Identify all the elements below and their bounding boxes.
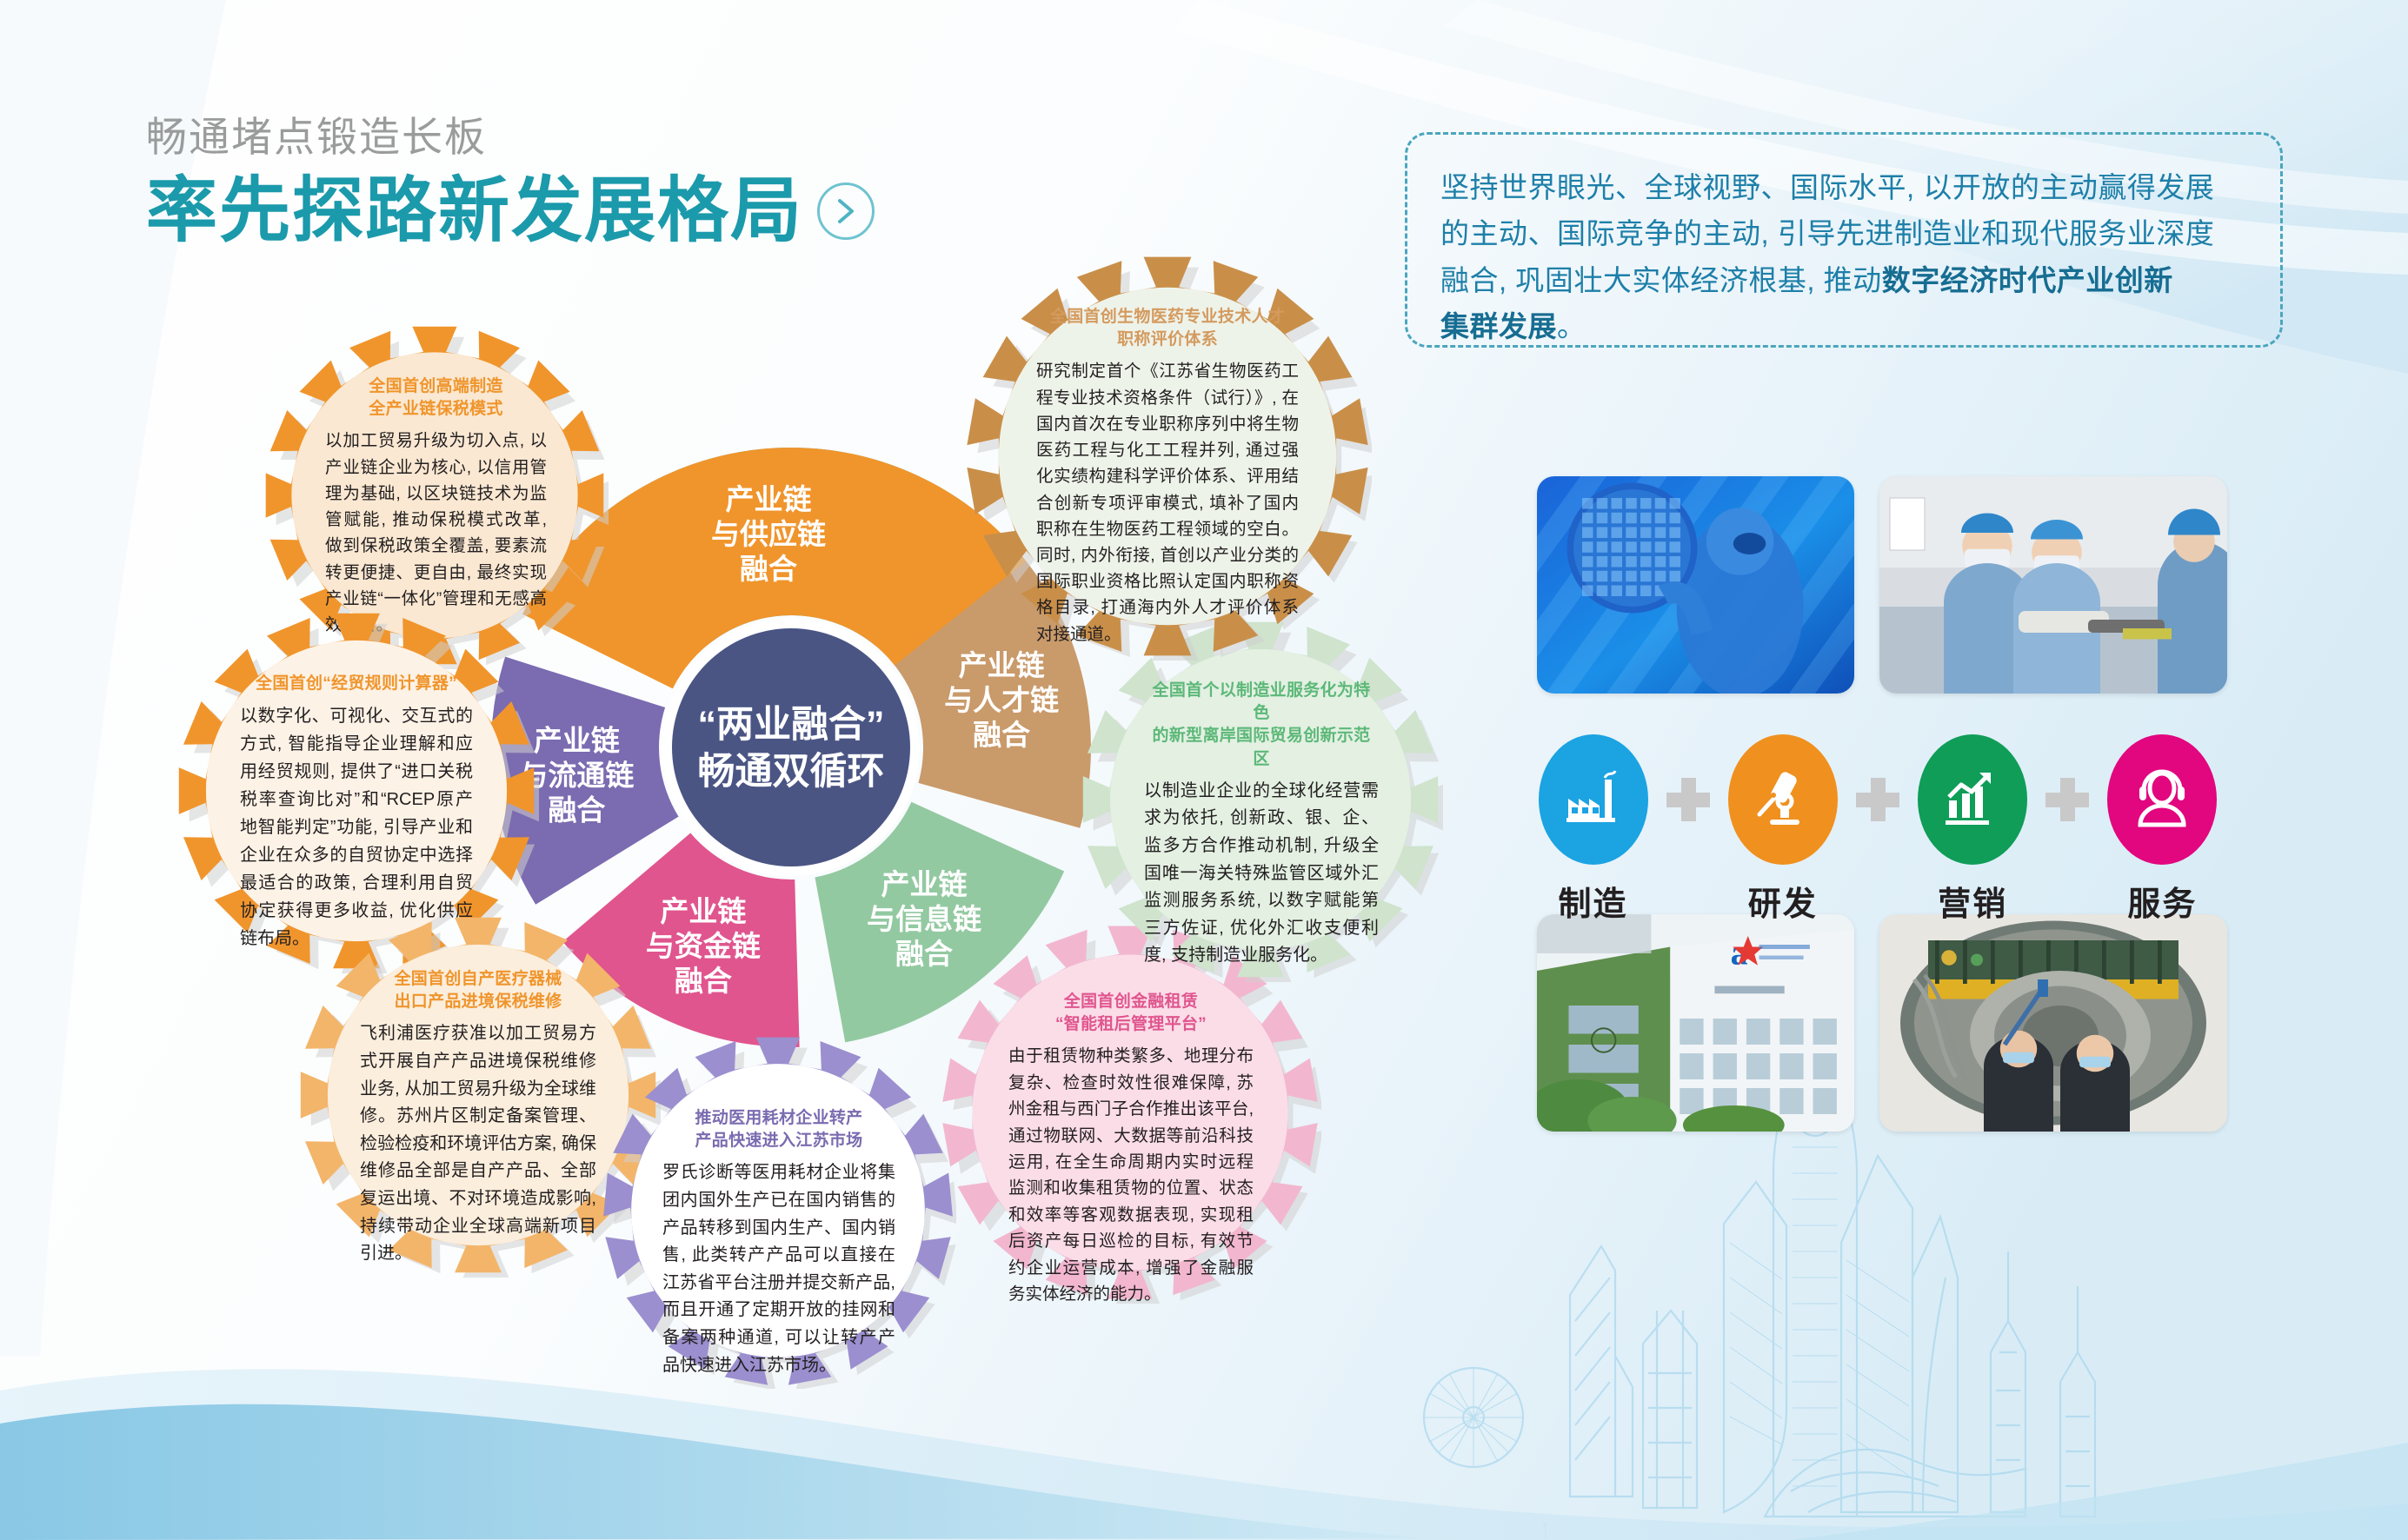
gear-title-line: 全国首创金融租赁 xyxy=(1064,992,1198,1011)
wheel-segment-label: 与资金链 xyxy=(646,930,761,962)
gear-title: 推动医用耗材企业转产产品快速进入江苏市场 xyxy=(662,1107,895,1152)
gear-content: 全国首创金融租赁“智能租后管理平台”由于租赁物种类繁多、地理分布复杂、检查时效性… xyxy=(1008,991,1254,1308)
gear-card-medical-consumables: 推动医用耗材企业转产产品快速进入江苏市场罗氏诊断等医用耗材企业将集团内国外生产已… xyxy=(600,1032,956,1389)
gear-title-line: 推动医用耗材企业转产 xyxy=(695,1109,862,1127)
gear-title-line: “智能租后管理平台” xyxy=(1055,1015,1207,1033)
gear-body-text: 研究制定首个《江苏省生物医药工程专业技术资格条件（试行）》, 在国内首次在专业职… xyxy=(1036,358,1299,647)
icon-item-factory[interactable]: 制造 xyxy=(1530,734,1656,925)
photo-surgery-team xyxy=(1879,476,2227,694)
quote-line-4-period: 。 xyxy=(1557,310,1586,342)
quote-line-2: 的主动、国际竞争的主动, 引导先进制造业和现代服务业深度 xyxy=(1440,217,2214,249)
growth-chart-icon xyxy=(1918,734,2027,865)
quote-line-3-emphasis: 数字经济时代产业创新 xyxy=(1882,264,2173,296)
wheel-center-disc xyxy=(672,628,910,866)
page-subtitle: 畅通堵点锻造长板 xyxy=(146,113,875,162)
value-chain-icon-row: 制造 研发 营销 xyxy=(1530,734,2225,917)
gear-title: 全国首创金融租赁“智能租后管理平台” xyxy=(1008,991,1254,1036)
factory-icon xyxy=(1539,734,1648,865)
gear-title: 全国首创“经贸规则计算器” xyxy=(240,673,473,695)
gear-body-text: 以制造业企业的全球化经营需求为依托, 创新政、银、企、监多方合作推动机制, 升级… xyxy=(1144,778,1379,970)
photo-campus-building: a xyxy=(1537,914,1854,1132)
icon-label: 服务 xyxy=(2099,877,2225,925)
gear-title-line: 产品快速进入江苏市场 xyxy=(695,1132,862,1150)
wheel-segment-label: 产业链 xyxy=(881,868,967,900)
gear-content: 全国首创自产医疗器械出口产品进境保税维修飞利浦医疗获准以加工贸易方式开展自产产品… xyxy=(360,968,596,1268)
icon-item-microscope[interactable]: 研发 xyxy=(1720,734,1846,925)
gear-title-line: 全国首创“经贸规则计算器” xyxy=(256,674,457,693)
quote-callout: 坚持世界眼光、全球视野、国际水平, 以开放的主动赢得发展 的主动、国际竞争的主动… xyxy=(1405,132,2283,348)
page-header: 畅通堵点锻造长板 率先探路新发展格局 xyxy=(146,113,875,249)
gear-title-line: 出口产品进境保税维修 xyxy=(394,992,562,1011)
icon-label: 研发 xyxy=(1720,877,1846,925)
wheel-segment-label: 与供应链 xyxy=(711,518,826,550)
gear-content: 全国首个以制造业服务化为特色的新型离岸国际贸易创新示范区以制造业企业的全球化经营… xyxy=(1144,680,1379,970)
gear-title-line: 全国首创高端制造 xyxy=(369,377,502,395)
wheel-center-line-1: “两业融合” xyxy=(698,704,885,746)
gear-content: 全国首创“经贸规则计算器”以数字化、可视化、交互式的方式, 智能指导企业理解和应… xyxy=(240,673,473,953)
gear-body-text: 以加工贸易升级为切入点, 以产业链企业为核心, 以信用管理为基础, 以区块链技术… xyxy=(325,428,547,638)
wheel-segment-label: 产业链 xyxy=(726,483,812,515)
gear-title-line: 全国首创生物医药专业技术人才 xyxy=(1050,308,1285,326)
gear-card-biopharma-title-system: 全国首创生物医药专业技术人才职称评价体系研究制定首个《江苏省生物医药工程专业技术… xyxy=(963,252,1372,660)
wheel-segment-label: 融合 xyxy=(675,965,732,997)
photo-semiconductor-wafer xyxy=(1537,476,1854,694)
wheel-segment-label: 与人才链 xyxy=(944,684,1059,716)
gear-content: 推动医用耗材企业转产产品快速进入江苏市场罗氏诊断等医用耗材企业将集团内国外生产已… xyxy=(662,1107,895,1379)
plus-icon xyxy=(1856,778,1899,821)
gear-title-line: 全产业链保税模式 xyxy=(369,400,502,418)
wheel-segment-label: 产业链 xyxy=(534,724,620,756)
photo-industrial-inspection xyxy=(1879,914,2227,1132)
wheel-segment-label: 融合 xyxy=(548,793,605,826)
gear-body-text: 飞利浦医疗获准以加工贸易方式开展自产产品进境保税维修业务, 从加工贸易升级为全球… xyxy=(360,1020,596,1267)
plus-icon xyxy=(2045,778,2089,821)
gear-title-line: 职称评价体系 xyxy=(1117,330,1218,348)
gear-title: 全国首个以制造业服务化为特色的新型离岸国际贸易创新示范区 xyxy=(1144,680,1379,771)
gear-title: 全国首创高端制造全产业链保税模式 xyxy=(325,375,547,421)
gear-content: 全国首创高端制造全产业链保税模式以加工贸易升级为切入点, 以产业链企业为核心, … xyxy=(325,375,547,638)
headset-person-icon xyxy=(2107,734,2217,865)
gear-title-line: 的新型离岸国际贸易创新示范区 xyxy=(1153,727,1371,767)
microscope-icon xyxy=(1728,734,1838,865)
chevron-right-icon[interactable] xyxy=(817,183,875,240)
plus-icon xyxy=(1666,778,1710,821)
wheel-segment-label: 融合 xyxy=(740,553,797,585)
wheel-center-line-2: 畅通双循环 xyxy=(698,751,885,793)
icon-label: 营销 xyxy=(1910,877,2036,925)
gear-title-line: 全国首个以制造业服务化为特色 xyxy=(1153,681,1371,722)
icon-item-growth-chart[interactable]: 营销 xyxy=(1910,734,2036,925)
gear-title-line: 全国首创自产医疗器械 xyxy=(394,970,562,988)
quote-line-3: 融合, 巩固壮大实体经济根基, 推动 xyxy=(1440,264,1882,296)
gear-content: 全国首创生物医药专业技术人才职称评价体系研究制定首个《江苏省生物医药工程专业技术… xyxy=(1036,306,1299,647)
page-title: 率先探路新发展格局 xyxy=(146,174,803,249)
wheel-segment-label: 融合 xyxy=(973,719,1030,751)
gear-card-offshore-trade-zone: 全国首个以制造业服务化为特色的新型离岸国际贸易创新示范区以制造业企业的全球化经营… xyxy=(1078,617,1443,982)
gear-body-text: 由于租赁物种类繁多、地理分布复杂、检查时效性很难保障, 苏州金租与西门子合作推出… xyxy=(1008,1043,1254,1307)
gear-title: 全国首创生物医药专业技术人才职称评价体系 xyxy=(1036,306,1299,351)
quote-line-4-emphasis: 集群发展 xyxy=(1440,310,1557,342)
gear-body-text: 罗氏诊断等医用耗材企业将集团内国外生产已在国内销售的产品转移到国内生产、国内销售… xyxy=(662,1159,895,1379)
wheel-segment-label: 产业链 xyxy=(660,895,746,927)
quote-line-1: 坚持世界眼光、全球视野、国际水平, 以开放的主动赢得发展 xyxy=(1440,171,2214,203)
icon-label: 制造 xyxy=(1530,877,1656,925)
gear-title: 全国首创自产医疗器械出口产品进境保税维修 xyxy=(360,968,596,1013)
icon-item-headset-person[interactable]: 服务 xyxy=(2099,734,2225,925)
